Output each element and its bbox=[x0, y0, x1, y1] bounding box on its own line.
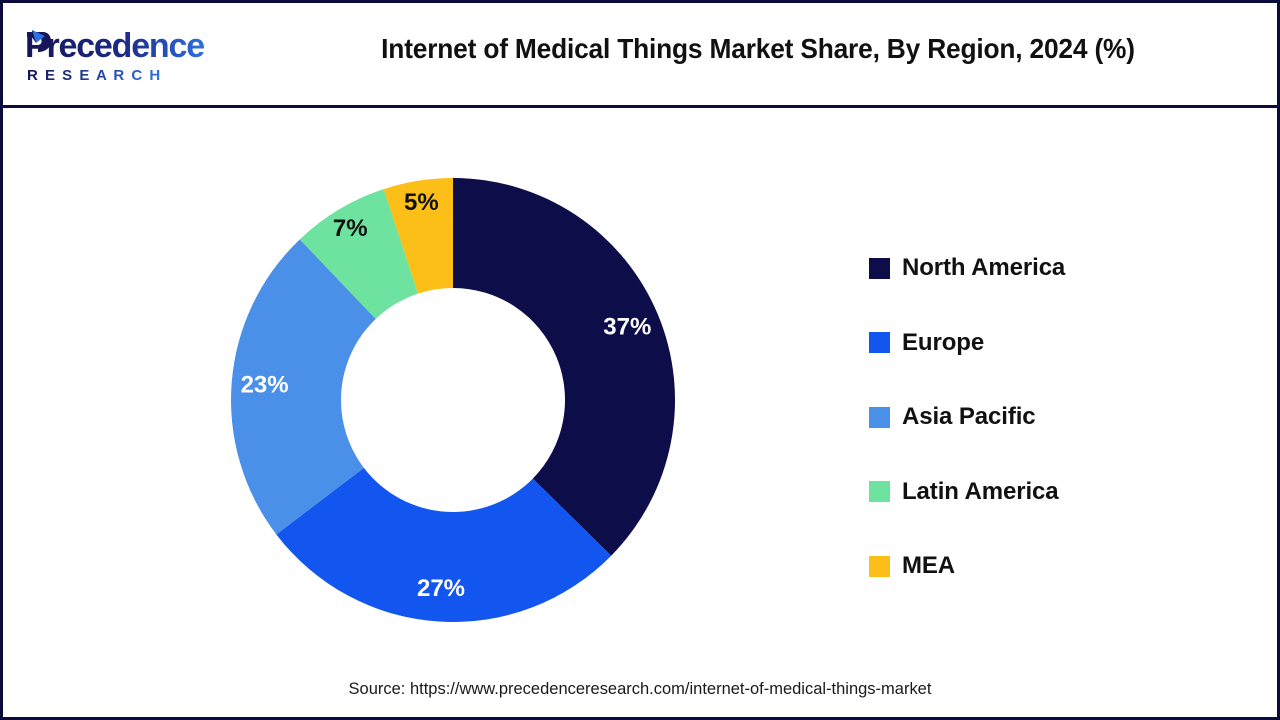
donut-chart-svg: 37%27%23%7%5% bbox=[225, 172, 681, 628]
legend-swatch-europe bbox=[869, 332, 890, 353]
precedence-research-logo: Precedence R E S E A R C H bbox=[17, 25, 232, 87]
legend-swatch-mea bbox=[869, 556, 890, 577]
figure-header: Precedence R E S E A R C H Internet of M… bbox=[3, 3, 1277, 108]
legend-item[interactable]: North America bbox=[869, 231, 1209, 306]
legend-item[interactable]: MEA bbox=[869, 529, 1209, 604]
legend-item-label: Latin America bbox=[902, 478, 1059, 506]
donut-slice-label: 27% bbox=[417, 575, 465, 602]
legend-swatch-asia-pacific bbox=[869, 407, 890, 428]
donut-chart: 37%27%23%7%5% bbox=[225, 172, 681, 628]
donut-slice-label: 7% bbox=[333, 215, 368, 242]
legend-swatch-latin-america bbox=[869, 481, 890, 502]
legend-item[interactable]: Europe bbox=[869, 306, 1209, 381]
chart-legend: North AmericaEuropeAsia PacificLatin Ame… bbox=[869, 231, 1209, 604]
logo-wordmark: Precedence bbox=[25, 27, 230, 65]
donut-slice-label: 37% bbox=[603, 313, 651, 340]
precedence-leaf-icon bbox=[21, 28, 55, 62]
chart-figure: Precedence R E S E A R C H Internet of M… bbox=[0, 0, 1280, 720]
donut-slice-label: 5% bbox=[404, 189, 439, 216]
legend-item-label: North America bbox=[902, 254, 1065, 282]
donut-slices bbox=[231, 178, 675, 622]
donut-slice[interactable] bbox=[453, 178, 675, 556]
legend-swatch-north-america bbox=[869, 258, 890, 279]
legend-item[interactable]: Latin America bbox=[869, 455, 1209, 530]
source-caption: Source: https://www.precedenceresearch.c… bbox=[22, 679, 1258, 699]
legend-item-label: Asia Pacific bbox=[902, 403, 1036, 431]
donut-slice-label: 23% bbox=[241, 372, 289, 399]
page-title: Internet of Medical Things Market Share,… bbox=[283, 33, 1232, 65]
legend-item-label: MEA bbox=[902, 552, 955, 580]
logo-subtitle-text: R E S E A R C H bbox=[27, 67, 162, 84]
logo-subtitle: R E S E A R C H bbox=[27, 65, 227, 85]
legend-item[interactable]: Asia Pacific bbox=[869, 380, 1209, 455]
legend-item-label: Europe bbox=[902, 329, 984, 357]
